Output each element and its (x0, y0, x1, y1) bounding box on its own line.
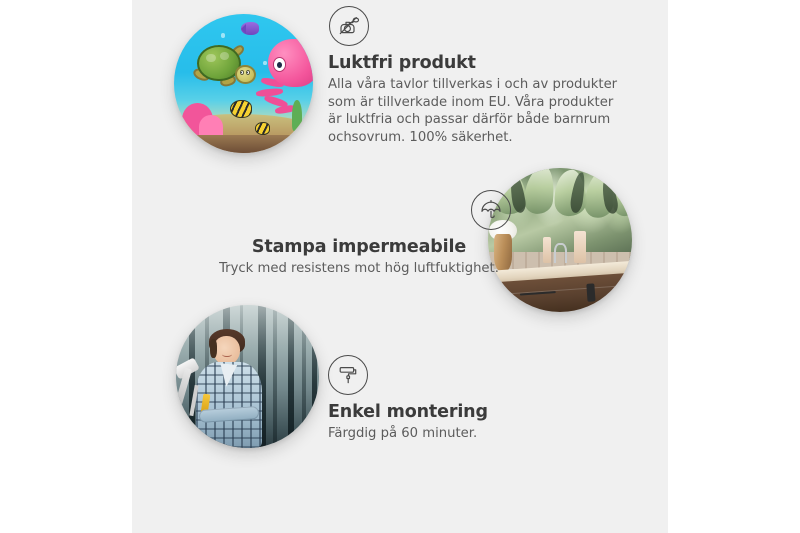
ocean-scene (174, 14, 313, 153)
feature-odourless: Luktfri produkt Alla våra tavlor tillver… (328, 6, 628, 146)
sea-turtle-icon (192, 45, 253, 92)
bathroom-bottle (574, 231, 586, 263)
umbrella-icon (471, 190, 511, 230)
woman-hair-side (210, 339, 217, 358)
feature-title: Enkel montering (328, 402, 608, 422)
ocean-foreground-strip (174, 135, 313, 153)
feature-body: Tryck med resistens mot hög luftfuktighe… (188, 260, 530, 278)
striped-fish-icon (230, 100, 252, 118)
forest-painter-scene (176, 305, 319, 448)
turtle-eye (240, 70, 244, 75)
octopus-head (268, 39, 313, 87)
feature-waterproof: Stampa impermeabile Tryck med resistens … (188, 190, 530, 278)
bathroom-bottle (543, 237, 552, 263)
feature-title: Luktfri produkt (328, 53, 628, 73)
seaweed-icon (292, 100, 302, 131)
striped-fish-icon (255, 122, 270, 135)
cabinet-handle (620, 280, 628, 298)
tree-trunk (302, 305, 306, 448)
purple-fish-icon (241, 22, 259, 35)
faucet-icon (554, 243, 567, 263)
no-odour-spray-bottle-icon (329, 6, 369, 46)
paint-roller-icon (328, 355, 368, 395)
banner-panel: Luktfri produkt Alla våra tavlor tillver… (132, 0, 668, 533)
turtle-head (235, 65, 256, 84)
cabinet-handle (586, 283, 594, 301)
octopus-eye (273, 57, 286, 71)
tree-trunk (273, 305, 277, 448)
underwater-kids-mural-thumbnail (174, 14, 313, 153)
promo-banner: Luktfri produkt Alla våra tavlor tillver… (0, 0, 800, 533)
feature-body: Färgdig på 60 minuter. (328, 425, 608, 443)
turtle-eye (246, 70, 250, 75)
tree-trunk (288, 305, 294, 448)
waterproof-icon-row (188, 190, 530, 230)
feature-body: Alla våra tavlor tillverkas i och av pro… (328, 76, 628, 146)
feature-easy-install: Enkel montering Färgdig på 60 minuter. (328, 355, 608, 443)
tree-trunk (312, 305, 317, 448)
octopus-icon (257, 39, 313, 117)
feature-title: Stampa impermeabile (188, 237, 530, 257)
painter-forest-wallpaper-thumbnail (176, 305, 319, 448)
